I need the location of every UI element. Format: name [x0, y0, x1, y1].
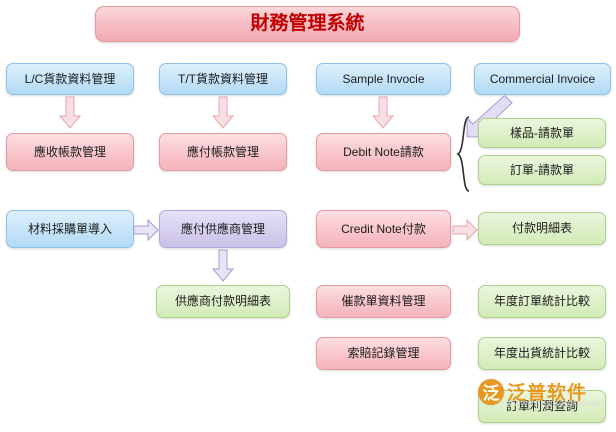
watermark-url: www.fanpusoft.com	[506, 398, 601, 408]
node-accounts-receivable[interactable]: 應收帳款管理	[6, 133, 134, 171]
arrow-supplier-to-detail	[212, 250, 234, 282]
watermark-badge-icon: 泛	[478, 379, 504, 405]
node-dunning-note[interactable]: 催款單資料管理	[316, 285, 451, 318]
node-claim-record[interactable]: 索賠記錄管理	[316, 337, 451, 370]
diagram-title: 財務管理系統	[95, 6, 520, 42]
node-accounts-payable[interactable]: 應付帳款管理	[159, 133, 287, 171]
arrow-lc-to-ar	[59, 97, 81, 129]
node-order-request[interactable]: 訂單-請款單	[478, 155, 606, 185]
node-sample-invoice[interactable]: Sample Invocie	[316, 63, 451, 95]
node-annual-order-stats[interactable]: 年度訂單統計比較	[478, 285, 606, 318]
node-sample-request[interactable]: 樣品-請款單	[478, 118, 606, 148]
diagram-canvas: 財務管理系統 L/C貨款資料管理 T/T貨款資料管理 Sample Invoci…	[0, 0, 616, 432]
node-debit-note[interactable]: Debit Note請款	[316, 133, 451, 171]
node-material-purchase-import[interactable]: 材料採購單導入	[6, 210, 134, 248]
arrow-material-to-supplier	[134, 219, 159, 241]
node-annual-shipment-stats[interactable]: 年度出貨統計比較	[478, 337, 606, 370]
node-supplier-payable[interactable]: 應付供應商管理	[159, 210, 287, 248]
arrow-tt-to-ap	[212, 97, 234, 129]
node-supplier-payment-detail[interactable]: 供應商付款明細表	[156, 285, 290, 318]
node-tt-payment-data[interactable]: T/T貨款資料管理	[159, 63, 287, 95]
node-payment-detail[interactable]: 付款明細表	[478, 212, 606, 245]
arrow-credit-to-paydetail	[453, 219, 478, 241]
node-credit-note[interactable]: Credit Note付款	[316, 210, 451, 248]
watermark-logo: 泛 泛普软件 www.fanpusoft.com	[478, 378, 587, 405]
node-lc-payment-data[interactable]: L/C貨款資料管理	[6, 63, 134, 95]
arrow-sample-to-debit	[372, 97, 394, 129]
brace-debit-group	[456, 116, 472, 197]
node-commercial-invoice[interactable]: Commercial Invoice	[474, 63, 611, 95]
